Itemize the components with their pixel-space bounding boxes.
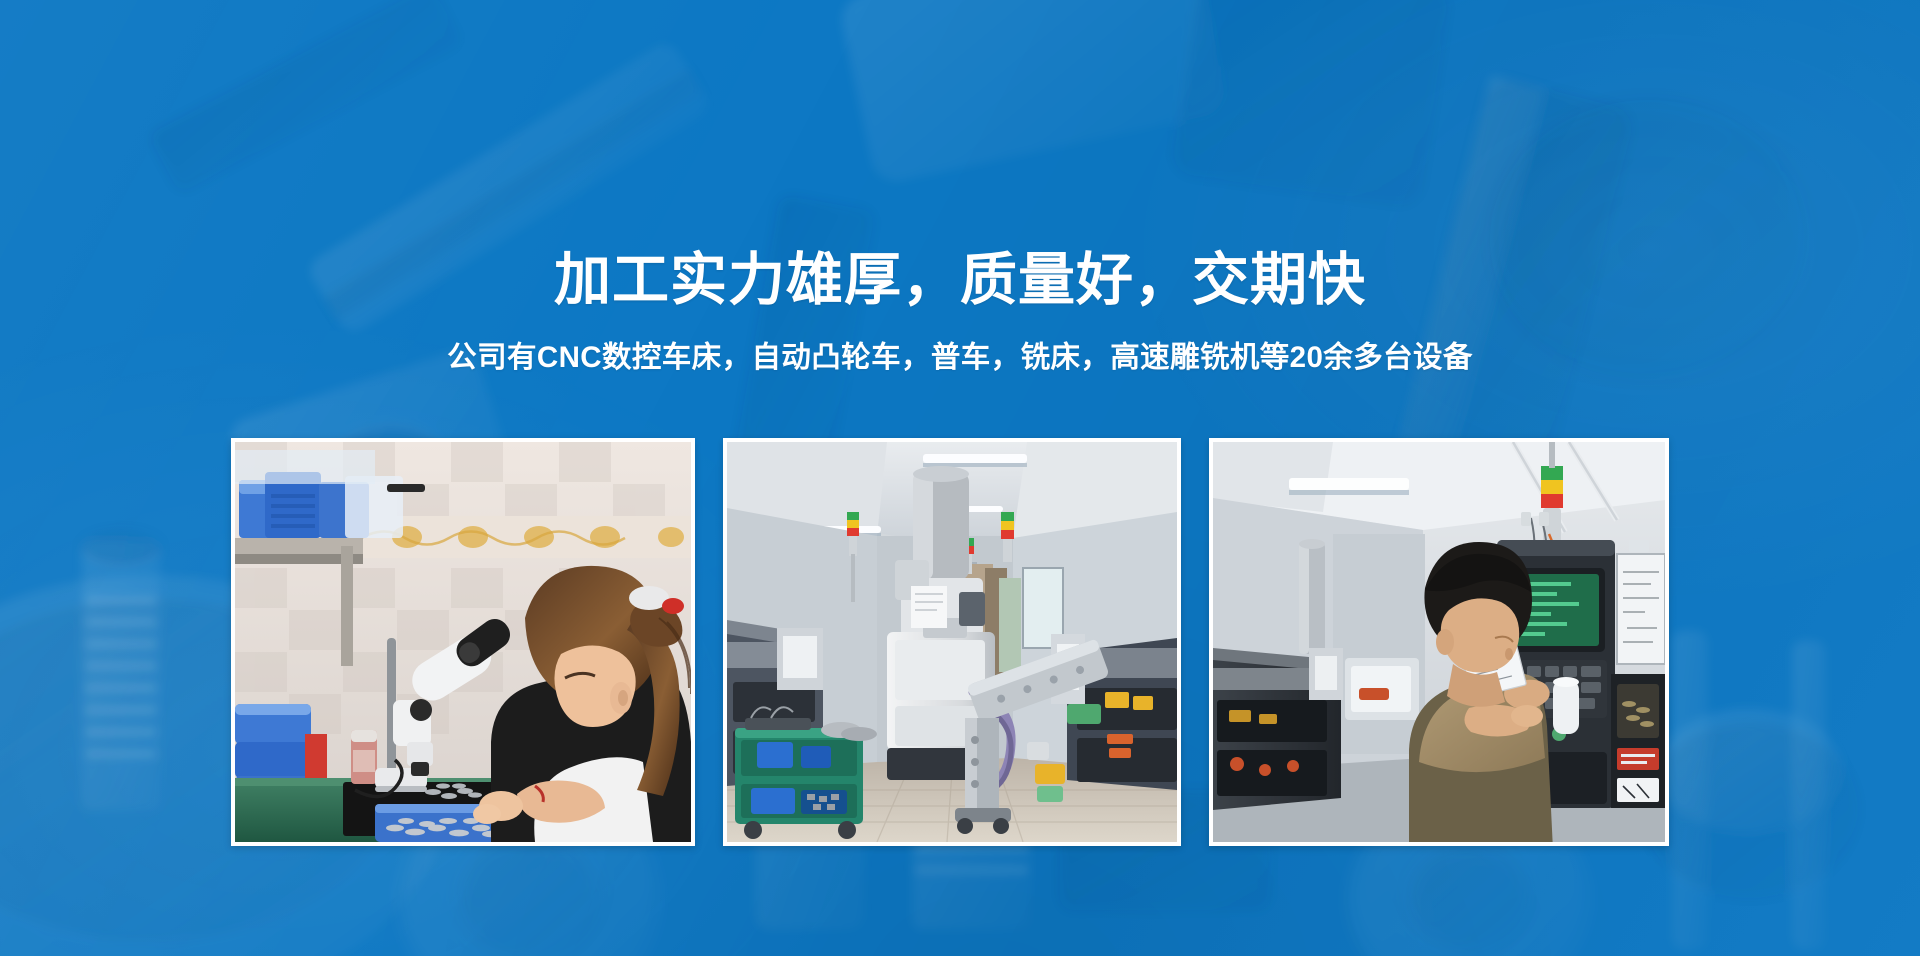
photo-cnc-machine-shop <box>727 442 1177 842</box>
page-subtitle: 公司有CNC数控车床，自动凸轮车，普车，铣床，高速雕铣机等20余多台设备 <box>0 343 1920 373</box>
photo-card-operator-at-cnc-panel[interactable] <box>1209 438 1669 846</box>
page-title: 加工实力雄厚，质量好，交期快 <box>0 252 1920 309</box>
photo-card-cnc-machine-shop[interactable] <box>723 438 1181 846</box>
banner-text-block: 加工实力雄厚，质量好，交期快 公司有CNC数控车床，自动凸轮车，普车，铣床，高速… <box>0 0 1920 373</box>
photo-card-microscope-inspection[interactable] <box>231 438 695 846</box>
photo-microscope-inspection <box>235 442 691 842</box>
photo-gallery <box>231 438 1669 846</box>
photo-operator-at-cnc-panel <box>1213 442 1665 842</box>
promo-banner: 加工实力雄厚，质量好，交期快 公司有CNC数控车床，自动凸轮车，普车，铣床，高速… <box>0 0 1920 956</box>
